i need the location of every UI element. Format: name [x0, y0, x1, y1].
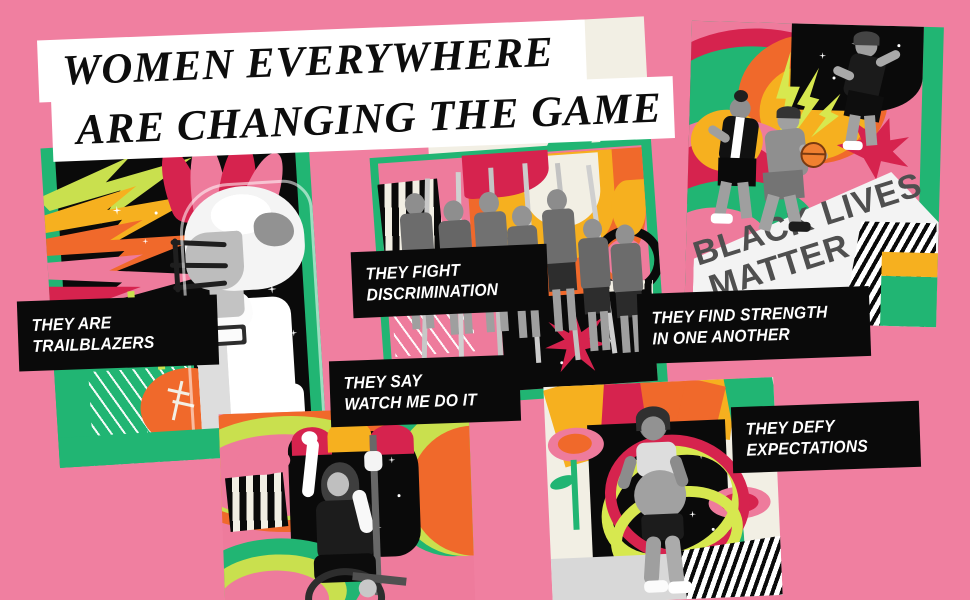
headline-line2: ARE CHANGING THE GAME [75, 86, 662, 151]
poster-wheelchair-art [219, 406, 476, 600]
poster-blm-art: BLACK LIVES MATTER [684, 21, 944, 327]
arm [874, 49, 901, 69]
legs [552, 289, 563, 331]
caption-expectations-line2: EXPECTATIONS [746, 434, 894, 460]
leg [644, 536, 662, 585]
yellow-corner-block [881, 252, 938, 277]
wheelchair-athlete-figure [291, 426, 415, 600]
poster-wheelchair-athlete[interactable] [219, 406, 476, 600]
leg [664, 535, 685, 586]
caption-watch-me[interactable]: THEY SAY WATCH ME DO IT [329, 355, 521, 428]
arm [616, 455, 638, 491]
shoe [711, 213, 733, 224]
legs [600, 311, 611, 350]
stripe-panel-left [225, 472, 288, 532]
basketball-player-defending [703, 97, 782, 229]
leg [737, 182, 752, 219]
shoe [843, 141, 863, 151]
green-corner-block [880, 276, 937, 327]
legs [566, 288, 577, 330]
legs [620, 315, 631, 352]
face [641, 416, 666, 441]
caption-trailblazers-line2: TRAILBLAZERS [32, 330, 191, 357]
leg [864, 115, 877, 146]
hair [853, 31, 879, 46]
jersey [610, 242, 643, 294]
legs [588, 312, 599, 351]
flower-stem [571, 460, 580, 530]
shoe [644, 580, 669, 593]
shoe [668, 581, 693, 594]
caption-watch-me-line2: WATCH ME DO IT [344, 388, 494, 414]
pregnant-runner-figure [617, 408, 711, 598]
poster-collage-canvas: BLACK LIVES MATTER [0, 0, 970, 600]
caption-strength[interactable]: THEY FIND STRENGTH IN ONE ANOTHER [637, 286, 871, 364]
caption-expectations[interactable]: THEY DEFY EXPECTATIONS [731, 401, 921, 474]
caption-discrimination[interactable]: THEY FIGHT DISCRIMINATION [351, 244, 550, 318]
poster-basketball-blm[interactable]: BLACK LIVES MATTER [684, 21, 944, 327]
raised-arm [302, 439, 320, 498]
pole-grip [364, 451, 383, 472]
shoe [788, 221, 810, 232]
caption-trailblazers[interactable]: THEY ARE TRAILBLAZERS [17, 295, 219, 372]
